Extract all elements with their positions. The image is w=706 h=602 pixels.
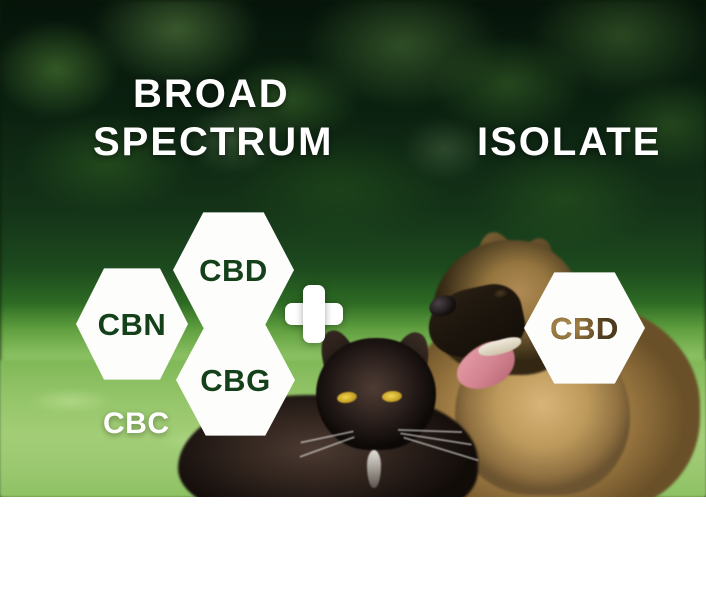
broad-spectrum-title-line-2: SPECTRUM (93, 122, 333, 162)
caption-band: WHOLE PLANT MINUS THC JUST CBD (0, 497, 706, 602)
broad-spectrum-title-line-1: BROAD (133, 74, 290, 114)
isolate-title: ISOLATE (477, 122, 661, 162)
cbd-comparison-infographic: BROAD SPECTRUM ISOLATE CBN CBD CBG CBC C… (0, 0, 706, 602)
hexagon-cbg-label: CBG (200, 365, 270, 396)
cat-head (316, 338, 436, 450)
background-photo: BROAD SPECTRUM ISOLATE CBN CBD CBG CBC C… (0, 0, 706, 497)
plus-icon-vertical-bar (303, 285, 325, 343)
hexagon-cbd-label: CBD (199, 255, 268, 286)
hexagon-cbd-isolate-label: CBD (550, 313, 619, 344)
plus-icon (285, 285, 343, 343)
hexagon-cbn-label: CBN (98, 309, 167, 340)
cbc-label: CBC (103, 409, 170, 439)
